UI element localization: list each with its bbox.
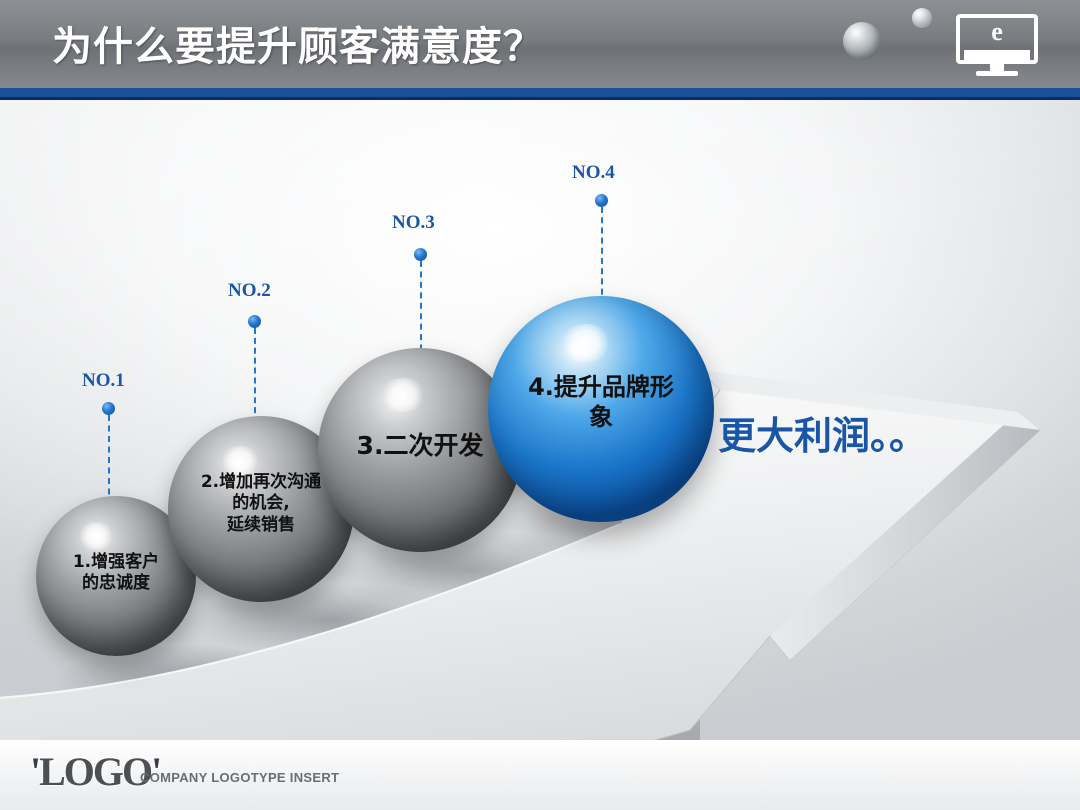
logo-quote-left: ' bbox=[30, 749, 39, 794]
marker-no3-label: NO.3 bbox=[392, 212, 435, 234]
sphere-4-line1: 4.提升品牌形 bbox=[528, 373, 674, 401]
sphere-3-highlight bbox=[380, 378, 426, 412]
marker-no3-dot bbox=[414, 248, 427, 261]
sphere-3-line1: 3.二次开发 bbox=[357, 431, 484, 460]
sphere-4-label: 4.提升品牌形 象 bbox=[488, 372, 714, 432]
marker-no3-stem bbox=[420, 261, 422, 361]
marker-no2-label: NO.2 bbox=[228, 280, 271, 302]
marker-no2-dot bbox=[248, 315, 261, 328]
bubble-large-icon bbox=[843, 22, 881, 60]
bubble-small-icon bbox=[912, 8, 932, 28]
sphere-1-highlight bbox=[78, 522, 114, 550]
sphere-4[interactable]: 4.提升品牌形 象 bbox=[488, 296, 714, 522]
sphere-1-line1: 1.增强客户 bbox=[73, 552, 159, 572]
sphere-1-line2: 的忠诚度 bbox=[82, 573, 150, 593]
sphere-2-line1: 2.增加再次沟通 bbox=[201, 472, 321, 492]
logo-word: LOGO bbox=[39, 749, 151, 794]
sphere-2-line3: 延续销售 bbox=[227, 515, 295, 535]
header-accent-rule-dark bbox=[0, 97, 1080, 100]
marker-no4-label: NO.4 bbox=[572, 162, 615, 184]
sphere-4-line2: 象 bbox=[589, 403, 613, 431]
monitor-base bbox=[976, 71, 1018, 76]
sphere-2-line2: 的机会, bbox=[232, 493, 289, 513]
marker-no2-stem bbox=[254, 328, 256, 423]
monitor-bar bbox=[964, 50, 1030, 60]
monitor-e-icon: e bbox=[956, 14, 1038, 76]
page-title: 为什么要提升顾客满意度？ bbox=[52, 14, 544, 72]
result-text: 更大利润。。 bbox=[718, 405, 927, 460]
header-accent-rule bbox=[0, 88, 1080, 97]
marker-no1-dot bbox=[102, 402, 115, 415]
sphere-4-highlight bbox=[560, 324, 612, 362]
monitor-letter: e bbox=[956, 16, 1038, 48]
marker-no1-label: NO.1 bbox=[82, 370, 125, 392]
logo-subtitle: COMPANY LOGOTYPE INSERT bbox=[140, 770, 339, 785]
sphere-1-label: 1.增强客户 的忠诚度 bbox=[36, 552, 196, 595]
slide: NO.1 NO.2 NO.3 NO.4 1.增强客户 的忠诚度 2.增加再次沟通… bbox=[0, 0, 1080, 810]
header-bar: 为什么要提升顾客满意度？ e bbox=[0, 0, 1080, 88]
marker-no1-stem bbox=[108, 415, 110, 505]
marker-no4-dot bbox=[595, 194, 608, 207]
